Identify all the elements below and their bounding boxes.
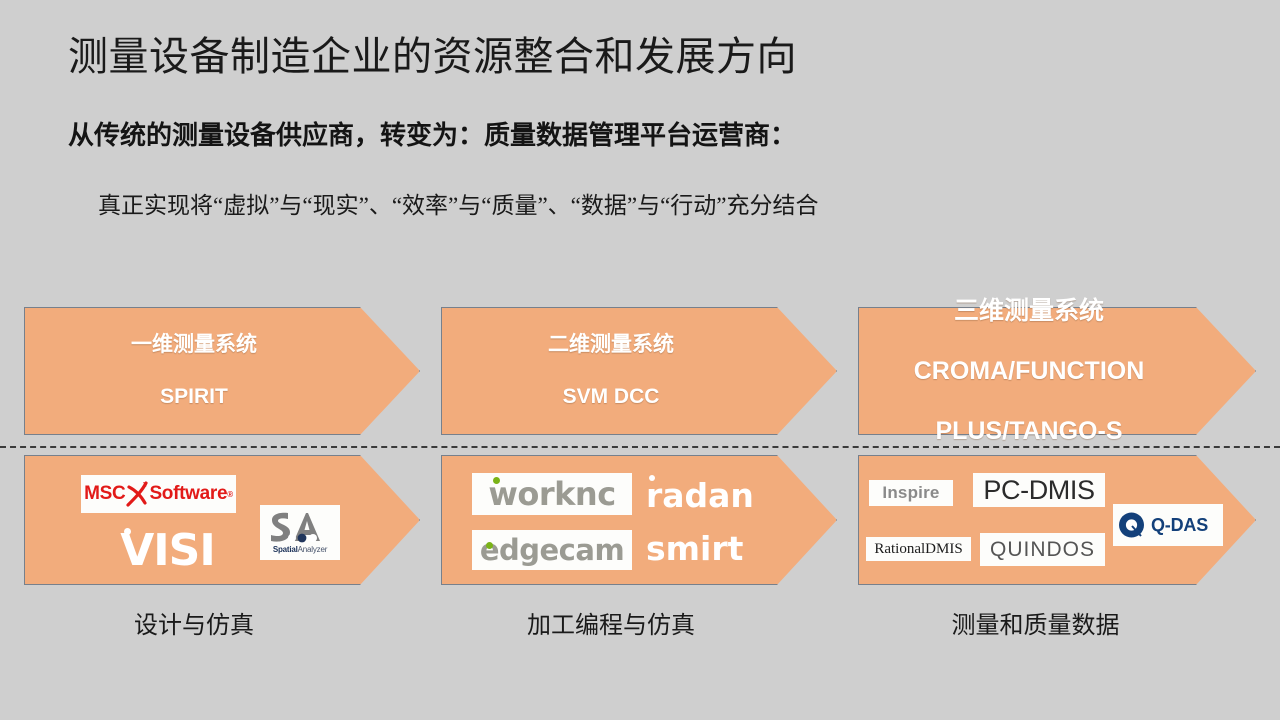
smirt-wordmark: smirt	[646, 529, 743, 568]
inspire-wordmark: Inspire	[882, 483, 939, 503]
caption-design-simulation: 设计与仿真	[24, 605, 364, 640]
page-title: 测量设备制造企业的资源整合和发展方向	[68, 24, 797, 82]
edgecam-text: edgecam	[480, 533, 624, 567]
radan-dot-icon	[649, 475, 655, 481]
arrow-label-line2: SPIRIT	[131, 384, 257, 410]
visi-text: VISI	[120, 525, 214, 576]
slide-subtitle: 从传统的测量设备供应商，转变为：质量数据管理平台运营商：	[68, 115, 796, 152]
arrow-content: 一维测量系统 SPIRIT	[24, 307, 420, 435]
arrow-1d-measurement-system: 一维测量系统 SPIRIT	[24, 307, 420, 435]
spatial-analyzer-caption-bold: Spatial	[273, 545, 298, 554]
q-das-logo: Q-DAS	[1113, 504, 1223, 546]
arrow-content: 二维测量系统 SVM DCC	[441, 307, 837, 435]
registered-mark-icon: ®	[227, 490, 233, 499]
msc-swoosh-icon	[126, 481, 148, 507]
pc-dmis-logo: PC-DMIS	[973, 473, 1105, 507]
caption-machining-programming: 加工编程与仿真	[441, 605, 781, 640]
arrow-label-line3: PLUS/TANGO-S	[914, 416, 1145, 446]
edgecam-logo: edgecam	[472, 530, 632, 570]
caption-measurement-quality-data: 测量和质量数据	[858, 605, 1213, 640]
spatial-analyzer-caption-light: Analyzer	[298, 545, 328, 554]
arrow-label-line2: SVM DCC	[548, 384, 674, 410]
arrow-2d-measurement-system: 二维测量系统 SVM DCC	[441, 307, 837, 435]
edgecam-dot-icon	[486, 542, 493, 549]
arrow-label-line2: CROMA/FUNCTION	[914, 356, 1145, 386]
spatial-analyzer-logo: SpatialAnalyzer	[260, 505, 340, 560]
arrow-3d-measurement-system: 三维测量系统 CROMA/FUNCTION PLUS/TANGO-S	[858, 307, 1256, 435]
q-das-badge-icon	[1118, 512, 1145, 539]
radan-logo: radan	[646, 475, 776, 515]
inspire-logo: Inspire	[869, 480, 953, 506]
arrow-label-line1: 三维测量系统	[914, 296, 1145, 326]
pc-dmis-wordmark: PC-DMIS	[983, 475, 1094, 506]
visi-dot-icon	[124, 528, 131, 535]
edgecam-wordmark: edgecam	[480, 533, 624, 567]
smirt-logo: smirt	[646, 527, 776, 569]
spatial-analyzer-caption: SpatialAnalyzer	[273, 546, 327, 554]
spatial-analyzer-monogram-icon	[266, 511, 334, 545]
visi-logo: VISI	[100, 524, 235, 576]
msc-software-text-msc: MSC	[84, 483, 125, 505]
worknc-logo: worknc	[472, 473, 632, 515]
arrow-label-line1: 一维测量系统	[131, 332, 257, 358]
arrow-label: 一维测量系统 SPIRIT	[131, 306, 313, 436]
msc-software-text-software: Software	[149, 483, 227, 505]
quindos-logo: QUINDOS	[980, 533, 1105, 566]
slide-tertiary-text: 真正实现将“虚拟”与“现实”、“效率”与“质量”、“数据”与“行动”充分结合	[98, 186, 819, 220]
radan-text: radan	[646, 476, 754, 515]
msc-software-logo: MSC Software ®	[81, 475, 236, 513]
quindos-wordmark: QUINDOS	[990, 538, 1095, 562]
arrow-content: 三维测量系统 CROMA/FUNCTION PLUS/TANGO-S	[858, 307, 1256, 435]
rationaldmis-wordmark: RationalDMIS	[874, 541, 962, 558]
arrow-label: 三维测量系统 CROMA/FUNCTION PLUS/TANGO-S	[914, 266, 1201, 476]
visi-wordmark: VISI	[120, 525, 214, 576]
worknc-wordmark: worknc	[488, 475, 615, 513]
arrow-label: 二维测量系统 SVM DCC	[548, 306, 730, 436]
radan-wordmark: radan	[646, 476, 754, 515]
section-divider	[0, 446, 1280, 448]
rationaldmis-logo: RationalDMIS	[866, 537, 971, 561]
msc-software-wordmark: MSC Software ®	[84, 481, 233, 507]
q-das-wordmark: Q-DAS	[1151, 515, 1208, 536]
worknc-text: worknc	[488, 475, 615, 513]
arrow-label-line1: 二维测量系统	[548, 332, 674, 358]
